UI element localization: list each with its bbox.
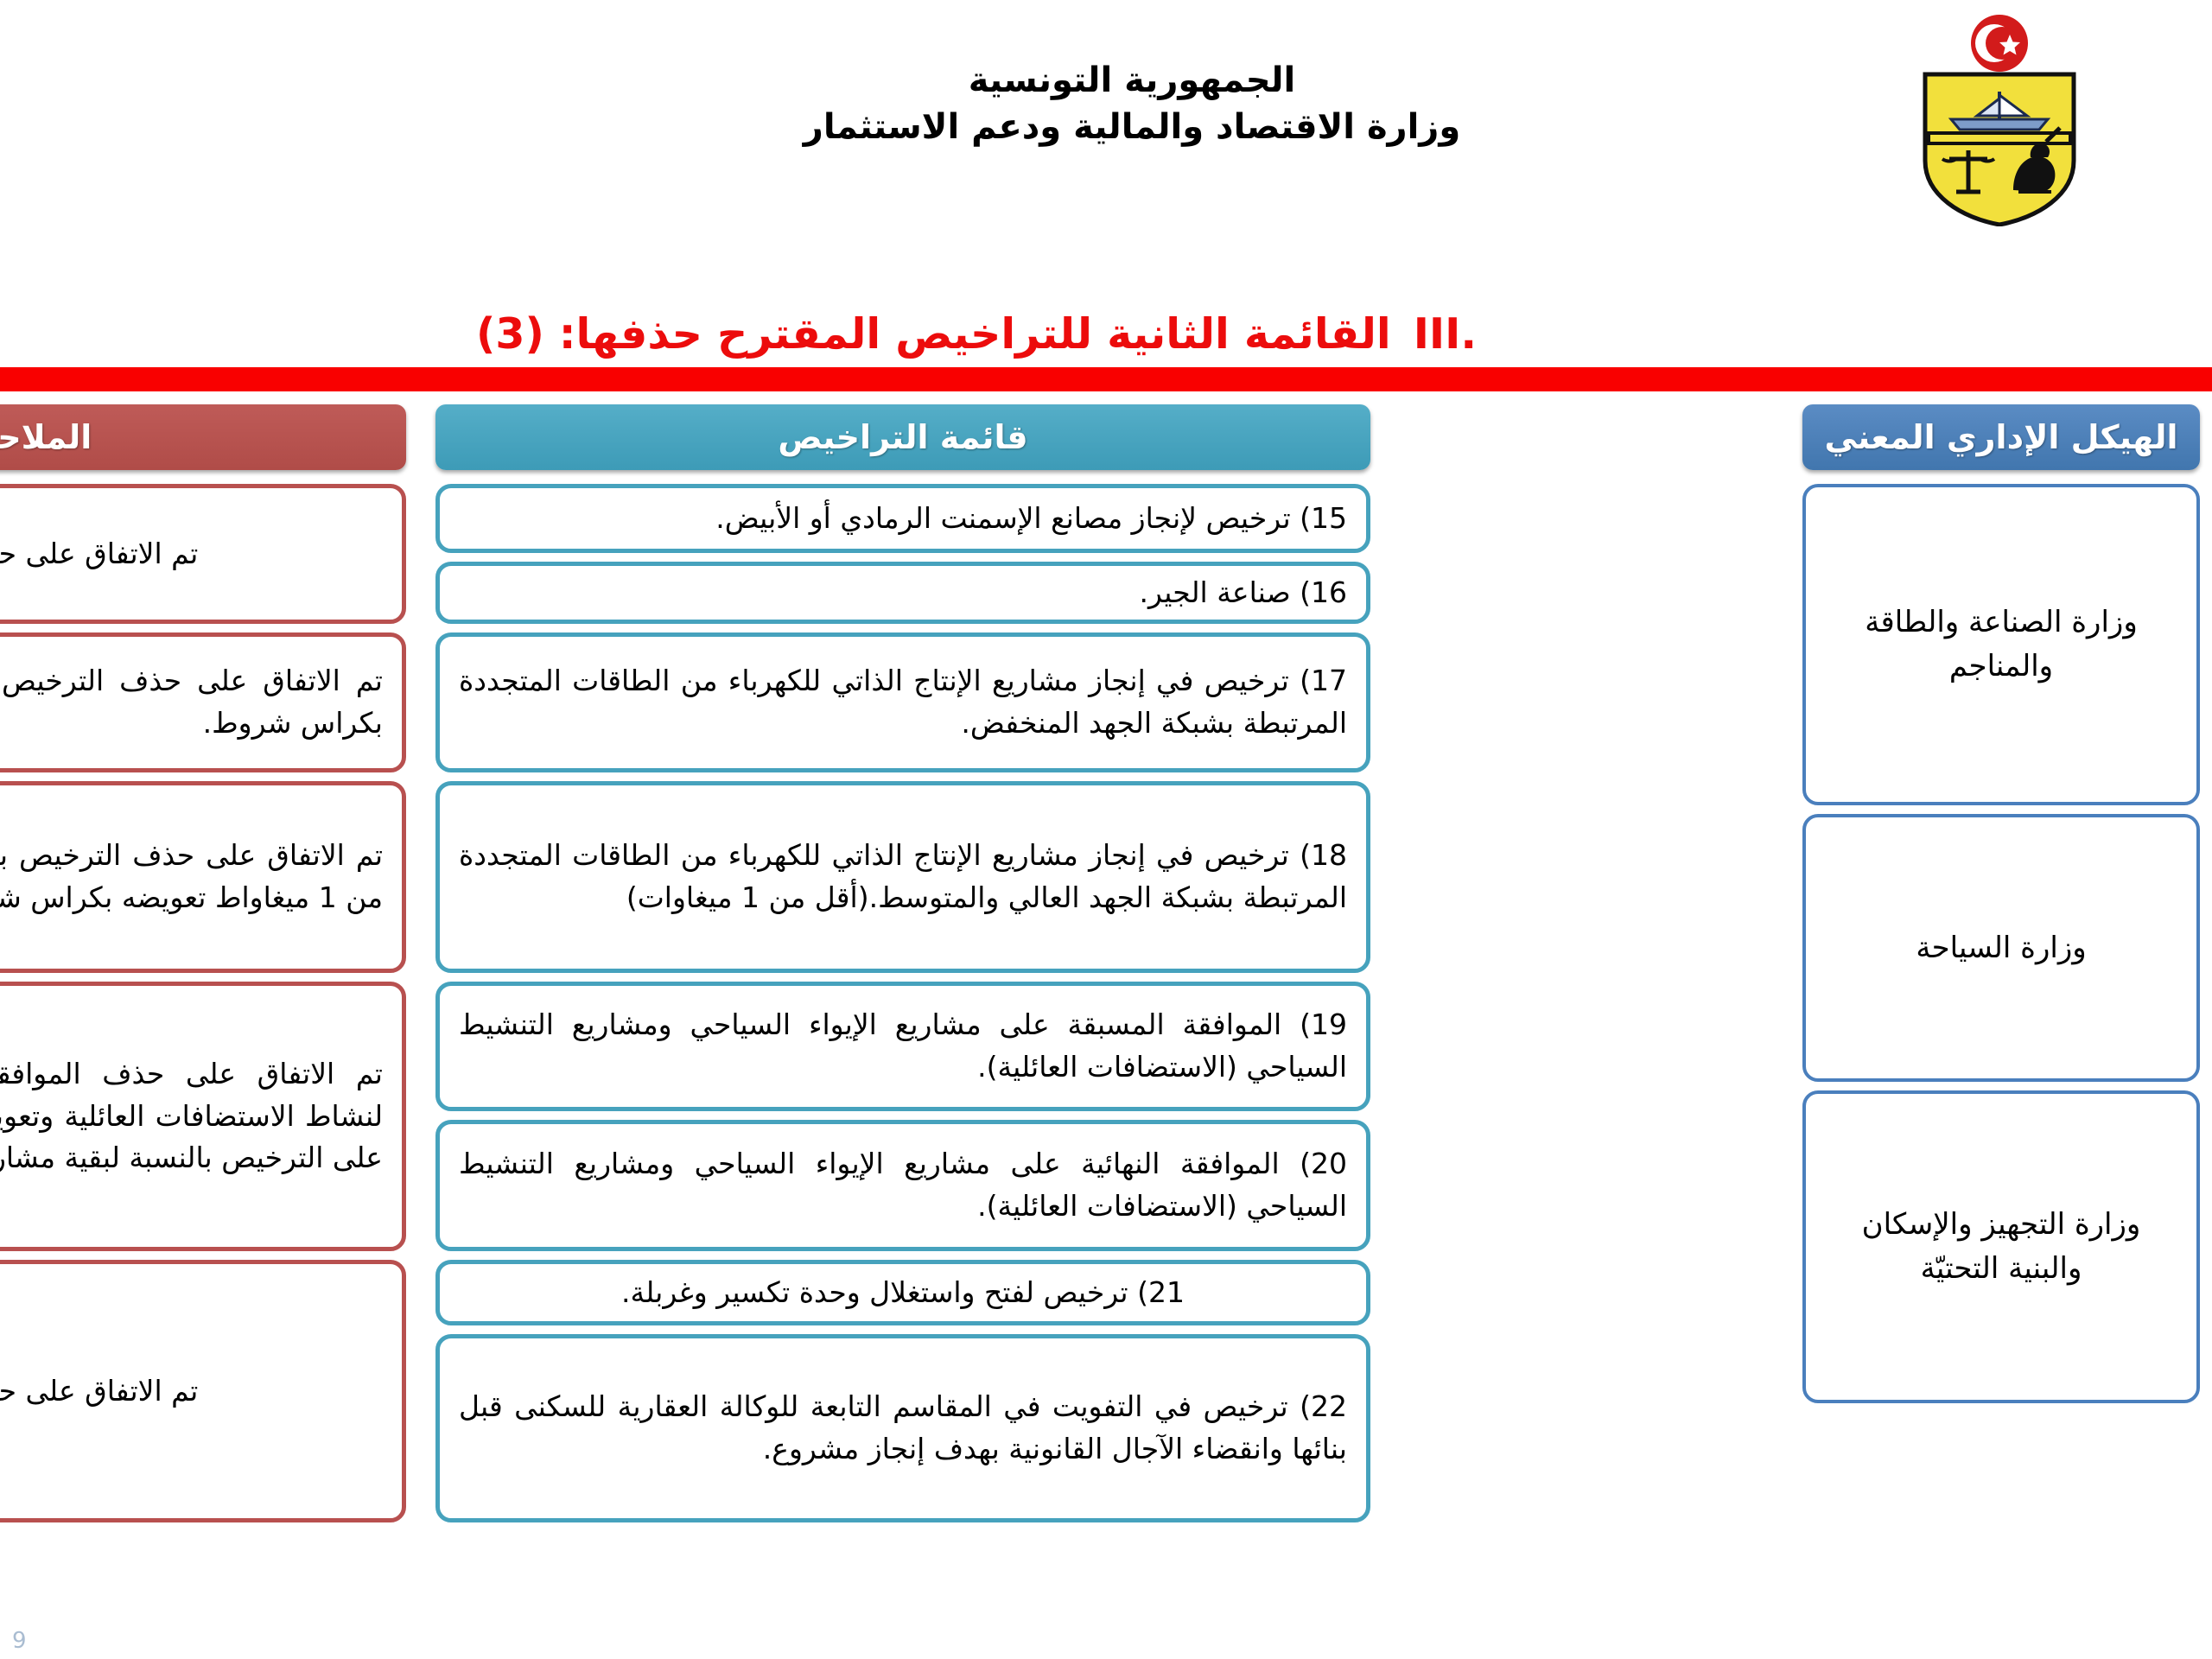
remark-cell: تم الاتفاق على حذف الترخيص بالنسبة للطاق… xyxy=(0,781,406,973)
licence-cell: 16) صناعة الجير. xyxy=(435,562,1370,624)
page-title-count: (3) xyxy=(476,309,544,359)
remark-text: تم الاتفاق على حذف الترخيص وتعويض ممارسة… xyxy=(0,660,383,745)
licence-text: 19) الموافقة المسبقة على مشاريع الإيواء … xyxy=(459,1004,1347,1089)
licence-text: 16) صناعة الجير. xyxy=(1140,572,1347,614)
org-cell: وزارة التجهيز والإسكان والبنية التحتيّة xyxy=(1802,1090,2200,1403)
slide-header: الجمهورية التونسية وزارة الاقتصاد والمال… xyxy=(0,57,2212,230)
org-cell: وزارة السياحة xyxy=(1802,814,2200,1082)
licence-text: 15) ترخيص لإنجاز مصانع الإسمنت الرمادي أ… xyxy=(715,498,1347,540)
licence-cell: 19) الموافقة المسبقة على مشاريع الإيواء … xyxy=(435,982,1370,1111)
column-header-licences: قائمة التراخيص xyxy=(435,404,1370,470)
licence-cell: 15) ترخيص لإنجاز مصانع الإسمنت الرمادي أ… xyxy=(435,484,1370,553)
remark-cell: تم الاتفاق على حذف الموافقة المسبقة والم… xyxy=(0,982,406,1251)
page-title-text: القائمة الثانية للتراخيص المقترح حذفها: xyxy=(559,309,1391,359)
licence-text: 17) ترخيص في إنجاز مشاريع الإنتاج الذاتي… xyxy=(459,660,1347,745)
slide-page: الجمهورية التونسية وزارة الاقتصاد والمال… xyxy=(0,0,2212,1659)
licence-cell: 22) ترخيص في التفويت في المقاسم التابعة … xyxy=(435,1334,1370,1522)
remark-text: تم الاتفاق على حذف الموافقة المسبقة والم… xyxy=(0,1053,383,1179)
section-title-row: III.القائمة الثانية للتراخيص المقترح حذف… xyxy=(0,309,2212,359)
licence-cell: 18) ترخيص في إنجاز مشاريع الإنتاج الذاتي… xyxy=(435,781,1370,973)
remark-text: تم الاتفاق على حذف الترخيصين. xyxy=(0,533,383,575)
column-licences: قائمة التراخيص 15) ترخيص لإنجاز مصانع ال… xyxy=(423,404,1382,1531)
header-text-group: الجمهورية التونسية وزارة الاقتصاد والمال… xyxy=(397,57,1866,150)
column-remarks: الملاحظات تم الاتفاق على حذف الترخيصين. … xyxy=(0,404,423,1531)
page-number: 9 xyxy=(12,1628,27,1654)
org-cell: وزارة الصناعة والطاقة والمناجم xyxy=(1802,484,2200,805)
licence-cell: 20) الموافقة النهائية على مشاريع الإيواء… xyxy=(435,1120,1370,1251)
country-title: الجمهورية التونسية xyxy=(397,57,1866,104)
licence-cell: 21) ترخيص لفتح واستغلال وحدة تكسير وغربل… xyxy=(435,1260,1370,1325)
licence-text: 20) الموافقة النهائية على مشاريع الإيواء… xyxy=(459,1143,1347,1228)
licence-text: 21) ترخيص لفتح واستغلال وحدة تكسير وغربل… xyxy=(621,1272,1185,1314)
section-number: III. xyxy=(1414,309,1477,359)
column-header-remarks: الملاحظات xyxy=(0,404,406,470)
red-separator-bar xyxy=(0,367,2212,391)
remark-text: تم الاتفاق على حذف الترخيصين. xyxy=(0,1370,383,1413)
licences-table: الهيكل الإداري المعني وزارة الصناعة والط… xyxy=(0,404,2212,1531)
licence-text: 18) ترخيص في إنجاز مشاريع الإنتاج الذاتي… xyxy=(459,835,1347,919)
column-organization: الهيكل الإداري المعني وزارة الصناعة والط… xyxy=(1789,404,2212,1531)
remark-cell: تم الاتفاق على حذف الترخيصين. xyxy=(0,484,406,624)
org-label: وزارة السياحة xyxy=(1916,926,2086,970)
tunisia-coat-of-arms-icon xyxy=(1899,12,2100,226)
column-header-organization: الهيكل الإداري المعني xyxy=(1802,404,2200,470)
org-label: وزارة الصناعة والطاقة والمناجم xyxy=(1825,601,2177,689)
remark-text: تم الاتفاق على حذف الترخيص بالنسبة للطاق… xyxy=(0,835,383,919)
licence-cell: 17) ترخيص في إنجاز مشاريع الإنتاج الذاتي… xyxy=(435,632,1370,772)
page-title: القائمة الثانية للتراخيص المقترح حذفها: … xyxy=(476,309,1391,359)
ministry-title: وزارة الاقتصاد والمالية ودعم الاستثمار xyxy=(397,104,1866,150)
remark-cell: تم الاتفاق على حذف الترخيص وتعويض ممارسة… xyxy=(0,632,406,772)
licence-text: 22) ترخيص في التفويت في المقاسم التابعة … xyxy=(459,1386,1347,1471)
org-label: وزارة التجهيز والإسكان والبنية التحتيّة xyxy=(1825,1203,2177,1291)
remark-cell: تم الاتفاق على حذف الترخيصين. xyxy=(0,1260,406,1522)
